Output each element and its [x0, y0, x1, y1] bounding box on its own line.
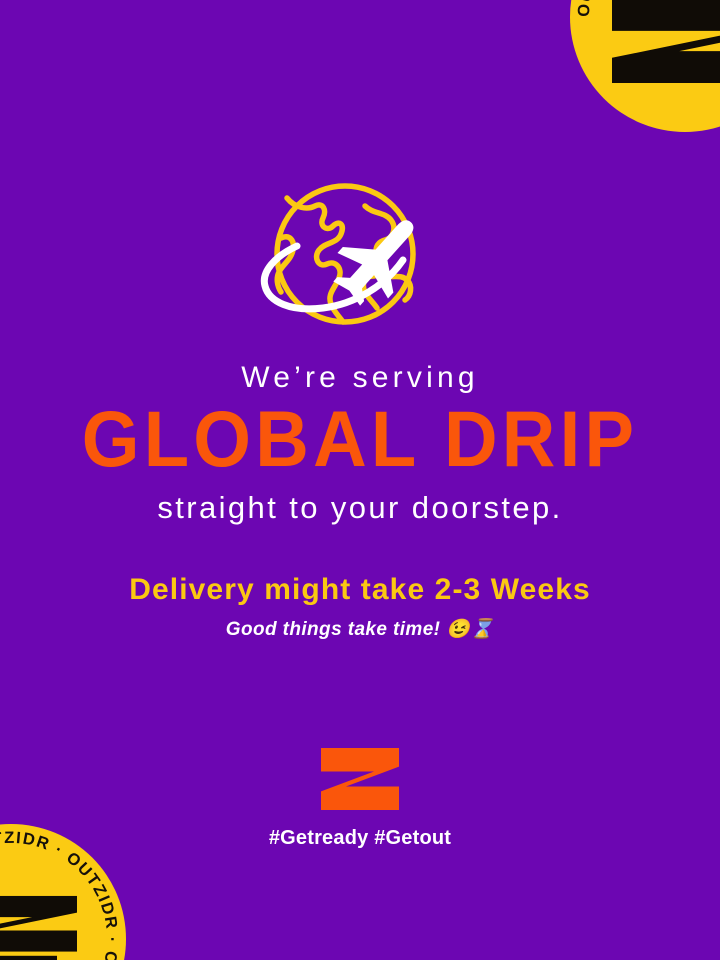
- subhead-text: straight to your doorstep.: [0, 492, 720, 525]
- delivery-notice-text: Delivery might take 2-3 Weeks: [0, 574, 720, 606]
- hero-illustration: [0, 176, 720, 346]
- eyebrow-text: We’re serving: [0, 362, 720, 394]
- copy-block: We’re serving GLOBAL DRIP straight to yo…: [0, 362, 720, 639]
- globe-with-airplane-icon: [235, 176, 485, 346]
- z-logo-icon: [0, 896, 77, 952]
- z-logo-icon: [612, 0, 720, 83]
- badge-core-bottom-left: OUTZIDR: [0, 896, 86, 960]
- promotional-poster: OUTZIDR · OUTZIDR · OUTZIDR · OUTZIDR ·: [0, 0, 720, 960]
- hashtags-text: #Getready #Getout: [269, 827, 451, 850]
- badge-bottom-left: OUTZIDR · OUTZIDR · OUTZIDR · OUTZIDR · …: [0, 824, 126, 960]
- badge-core-top-right: [599, 0, 720, 83]
- badge-top-right: OUTZIDR · OUTZIDR · OUTZIDR · OUTZIDR ·: [570, 0, 720, 132]
- z-logo-icon: [321, 748, 399, 810]
- badge-wordmark-text: OUTZIDR: [0, 956, 56, 960]
- headline-text: GLOBAL DRIP: [0, 399, 720, 477]
- reassurance-text: Good things take time! 😉⌛: [0, 620, 720, 640]
